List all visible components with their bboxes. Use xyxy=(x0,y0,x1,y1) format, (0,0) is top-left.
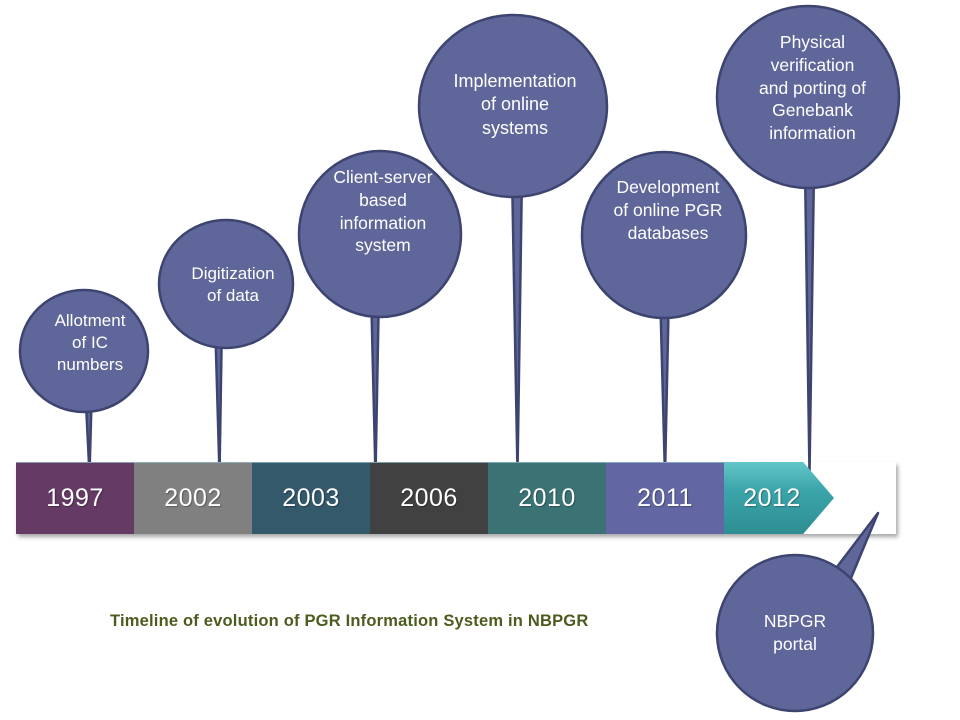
callout-bubble-shape xyxy=(10,288,170,478)
timeline-year-label: 2011 xyxy=(637,484,693,513)
timeline-year-label: 1997 xyxy=(46,484,104,513)
diagram-caption: Timeline of evolution of PGR Information… xyxy=(110,612,588,631)
callout-allotment-of-ic-numbers[interactable]: Allotment of IC numbers xyxy=(10,288,170,478)
timeline-year-label: 2006 xyxy=(400,484,458,513)
timeline-year-label: 2003 xyxy=(282,484,340,513)
timeline-diagram: Allotment of IC numbers Digitization of … xyxy=(0,0,960,720)
timeline-segment-2006[interactable]: 2006 xyxy=(370,462,488,534)
timeline-year-label: 2010 xyxy=(518,484,576,513)
timeline-segment-2010[interactable]: 2010 xyxy=(488,462,606,534)
callout-bubble-shape xyxy=(700,505,910,720)
callout-nbpgr-portal[interactable]: NBPGR portal xyxy=(700,505,910,720)
callout-physical-verification-and-porting-of-genebank-information[interactable]: Physical verification and porting of Gen… xyxy=(700,3,925,478)
timeline-segment-2002[interactable]: 2002 xyxy=(134,462,252,534)
timeline-segment-1997[interactable]: 1997 xyxy=(16,462,134,534)
timeline-segment-2003[interactable]: 2003 xyxy=(252,462,370,534)
timeline-year-label: 2002 xyxy=(164,484,222,513)
callout-bubble-shape xyxy=(700,3,925,478)
